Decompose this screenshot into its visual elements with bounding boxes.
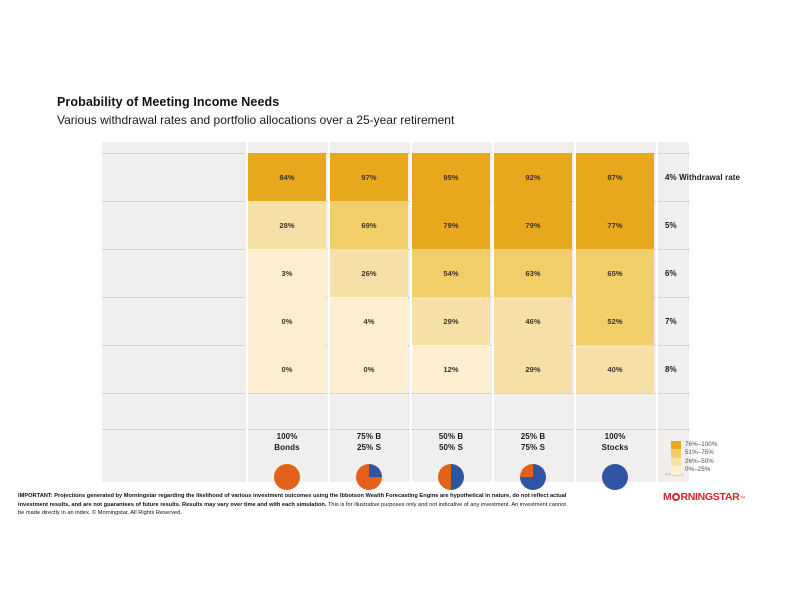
heatmap-cell: 3% bbox=[248, 249, 326, 297]
heatmap-cell-value: 65% bbox=[607, 269, 622, 278]
logo-text-part1: M bbox=[663, 492, 671, 503]
allocation-pie-icon bbox=[274, 464, 300, 490]
logo-circle-icon bbox=[672, 493, 680, 501]
heatmap-cell-value: 95% bbox=[443, 173, 458, 182]
heatmap-cell-value: 97% bbox=[361, 173, 376, 182]
allocation-pie-icon bbox=[520, 464, 546, 490]
legend-label: 76%–100% bbox=[685, 441, 717, 449]
heatmap-cell: 0% bbox=[248, 297, 326, 345]
heatmap-cell-value: 29% bbox=[443, 317, 458, 326]
disclaimer-line-1: IMPORTANT: Projections generated by Morn… bbox=[18, 492, 658, 501]
heatmap-cell-value: 77% bbox=[607, 221, 622, 230]
heatmap-chart: PRB113 84%97%95%92%87%28%69%79%79%77%3%2… bbox=[102, 142, 689, 482]
disclaimer-line-2-bold: investment results, and are not guarante… bbox=[18, 502, 326, 508]
legend-swatch bbox=[671, 466, 681, 474]
allocation-column: 25% B75% S bbox=[493, 432, 573, 490]
allocation-label-line2: 50% S bbox=[411, 443, 491, 454]
title-block: Probability of Meeting Income Needs Vari… bbox=[57, 95, 454, 128]
heatmap-cell: 46% bbox=[494, 297, 572, 345]
morningstar-logo: M RNINGSTAR ™ bbox=[663, 492, 745, 503]
heatmap-cell: 29% bbox=[412, 297, 490, 345]
heatmap-cell: 69% bbox=[330, 201, 408, 249]
heatmap-cell: 79% bbox=[412, 201, 490, 249]
allocation-label-line2: 25% S bbox=[329, 443, 409, 454]
disclaimer-line-2-rest: This is for illustrative purposes only a… bbox=[326, 502, 566, 508]
allocation-column: 75% B25% S bbox=[329, 432, 409, 490]
allocation-label-line2: Bonds bbox=[247, 443, 327, 454]
allocation-label-line1: 50% B bbox=[411, 432, 491, 443]
disclaimer-footer: IMPORTANT: Projections generated by Morn… bbox=[18, 492, 658, 518]
heatmap-cell-value: 46% bbox=[525, 317, 540, 326]
heatmap-cell: 12% bbox=[412, 345, 490, 393]
heatmap-cell-value: 0% bbox=[281, 317, 292, 326]
heatmap-cell-value: 26% bbox=[361, 269, 376, 278]
legend-swatch bbox=[671, 441, 681, 449]
heatmap-cell: 0% bbox=[330, 345, 408, 393]
heatmap-cell: 65% bbox=[576, 249, 654, 297]
legend-swatch bbox=[671, 449, 681, 457]
heatmap-cell-value: 4% bbox=[363, 317, 374, 326]
heatmap-cell: 79% bbox=[494, 201, 572, 249]
trademark-icon: ™ bbox=[740, 496, 745, 502]
heatmap-cell-value: 79% bbox=[525, 221, 540, 230]
heatmap-cell-value: 79% bbox=[443, 221, 458, 230]
heatmap-cell: 54% bbox=[412, 249, 490, 297]
heatmap-cell: 0% bbox=[248, 345, 326, 393]
heatmap-cell: 87% bbox=[576, 153, 654, 201]
heatmap-cell-value: 63% bbox=[525, 269, 540, 278]
logo-text-part2: RNINGSTAR bbox=[680, 492, 739, 503]
disclaimer-line-2: investment results, and are not guarante… bbox=[18, 501, 658, 510]
heatmap-cell: 97% bbox=[330, 153, 408, 201]
heatmap-cell-value: 0% bbox=[363, 365, 374, 374]
allocation-label-line1: 75% B bbox=[329, 432, 409, 443]
heatmap-cell: 95% bbox=[412, 153, 490, 201]
page-subtitle: Various withdrawal rates and portfolio a… bbox=[57, 113, 454, 128]
legend-label: 0%–25% bbox=[685, 466, 717, 474]
legend-swatch-column bbox=[671, 441, 681, 475]
allocation-pie-icon bbox=[438, 464, 464, 490]
disclaimer-line-1-text: IMPORTANT: Projections generated by Morn… bbox=[18, 493, 566, 499]
allocation-column: 50% B50% S bbox=[411, 432, 491, 490]
allocation-label-line1: 100% bbox=[575, 432, 655, 443]
page-title: Probability of Meeting Income Needs bbox=[57, 95, 454, 110]
row-label-withdrawal-rate: 6% bbox=[665, 249, 785, 297]
allocation-column: 100%Bonds bbox=[247, 432, 327, 490]
heatmap-cell-value: 29% bbox=[525, 365, 540, 374]
heatmap-cell: 28% bbox=[248, 201, 326, 249]
allocation-label-line1: 25% B bbox=[493, 432, 573, 443]
heatmap-cell: 4% bbox=[330, 297, 408, 345]
heatmap-cell-value: 0% bbox=[281, 365, 292, 374]
heatmap-cell: 52% bbox=[576, 297, 654, 345]
allocation-label-line2: Stocks bbox=[575, 443, 655, 454]
legend-label: 26%–50% bbox=[685, 458, 717, 466]
heatmap-cell-value: 3% bbox=[281, 269, 292, 278]
allocation-label-line2: 75% S bbox=[493, 443, 573, 454]
allocation-pie-icon bbox=[356, 464, 382, 490]
heatmap-cell-value: 40% bbox=[607, 365, 622, 374]
heatmap-cell: 26% bbox=[330, 249, 408, 297]
legend-label-column: 76%–100%51%–75%26%–50%0%–25% bbox=[685, 441, 717, 475]
column-separator bbox=[656, 142, 658, 482]
heatmap-cell-value: 12% bbox=[443, 365, 458, 374]
heatmap-cell-value: 87% bbox=[607, 173, 622, 182]
color-legend: 76%–100%51%–75%26%–50%0%–25% bbox=[671, 441, 717, 475]
row-label-withdrawal-rate: 8% bbox=[665, 345, 785, 393]
heatmap-cell: 29% bbox=[494, 345, 572, 393]
heatmap-cell: 40% bbox=[576, 345, 654, 393]
heatmap-cell: 63% bbox=[494, 249, 572, 297]
heatmap-cell-value: 69% bbox=[361, 221, 376, 230]
row-label-withdrawal-rate: 5% bbox=[665, 201, 785, 249]
allocation-label-line1: 100% bbox=[247, 432, 327, 443]
heatmap-cell-value: 92% bbox=[525, 173, 540, 182]
heatmap-cell-value: 84% bbox=[279, 173, 294, 182]
legend-swatch bbox=[671, 458, 681, 466]
grid-rule bbox=[102, 429, 689, 430]
heatmap-cell: 84% bbox=[248, 153, 326, 201]
heatmap-cell-value: 54% bbox=[443, 269, 458, 278]
heatmap-cell-value: 52% bbox=[607, 317, 622, 326]
legend-label: 51%–75% bbox=[685, 449, 717, 457]
allocation-pie-icon bbox=[602, 464, 628, 490]
disclaimer-line-3: be made directly in an index. © Mornings… bbox=[18, 509, 658, 518]
row-label-withdrawal-rate: 7% bbox=[665, 297, 785, 345]
allocation-column: 100%Stocks bbox=[575, 432, 655, 490]
grid-rule bbox=[102, 393, 689, 394]
heatmap-cell: 92% bbox=[494, 153, 572, 201]
heatmap-cell: 77% bbox=[576, 201, 654, 249]
heatmap-cell-value: 28% bbox=[279, 221, 294, 230]
row-label-withdrawal-rate: 4% Withdrawal rate bbox=[665, 153, 785, 201]
